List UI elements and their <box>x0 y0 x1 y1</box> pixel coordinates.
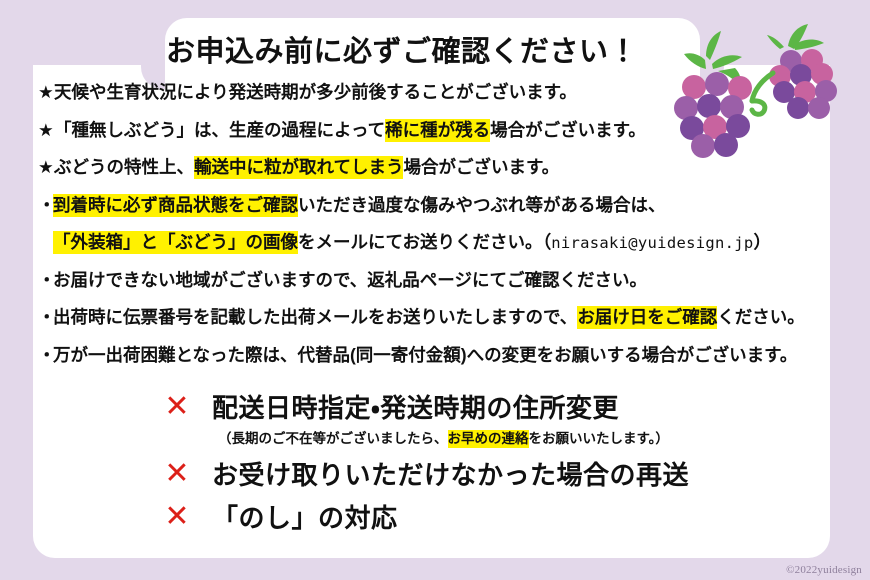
notice-star-item: ★天候や生育状況により発送時期が多少前後することがございます。 <box>38 84 838 102</box>
notice-dot-item: ・到着時に必ず商品状態をご確認いただき過度な傷みやつぶれ等がある場合は、 <box>38 197 838 215</box>
notice-text: ぶどうの特性上、 <box>54 157 194 177</box>
notice-dot-item-continued: 「外装箱」と「ぶどう」の画像をメールにてお送りください。（nirasaki@yu… <box>38 234 838 252</box>
prohibited-item-label: 「のし」の対応 <box>212 498 398 535</box>
star-bullet-icon: ★ <box>38 84 54 102</box>
highlighted-text: お届け日をご確認 <box>577 306 717 329</box>
highlighted-text: 到着時に必ず商品状態をご確認 <box>53 194 298 217</box>
notice-star-item: ★「種無しぶどう」は、生産の過程によって稀に種が残る場合がございます。 <box>38 122 838 140</box>
copyright-credit: ©2022yuidesign <box>786 564 862 576</box>
notice-list: ★天候や生育状況により発送時期が多少前後することがございます。★「種無しぶどう」… <box>38 84 838 384</box>
notice-text: 場合がございます。 <box>403 157 559 177</box>
prohibited-item-note: （長期のご不在等がございましたら、お早めの連絡をお願いいたします。） <box>218 427 860 447</box>
notice-text: nirasaki@yuidesign.jp <box>551 234 753 252</box>
x-cross-icon: ✕ <box>160 459 194 489</box>
notice-dot-item: ・お届けできない地域がございますので、返礼品ページにてご確認ください。 <box>38 272 838 290</box>
notice-text: 出荷時に伝票番号を記載した出荷メールをお送りいたしますので、 <box>53 307 577 327</box>
notice-text: ） <box>754 232 772 252</box>
prohibited-item: ✕配送日時指定・発送時期の住所変更 <box>160 388 860 425</box>
page-title: お申込み前に必ずご確認ください！ <box>0 28 870 70</box>
dot-bullet-icon: ・ <box>38 347 53 365</box>
notice-dot-item: ・出荷時に伝票番号を記載した出荷メールをお送りいたしますので、お届け日をご確認く… <box>38 309 838 327</box>
notice-text: 万が一出荷困難となった際は、代替品(同一寄付金額)への変更をお願いする場合がござ… <box>53 345 797 365</box>
highlighted-text: 稀に種が残る <box>385 119 490 142</box>
poster-background: お申込み前に必ずご確認ください！ ★天候や生育状況により発送時期が多少前後するこ… <box>0 0 870 580</box>
notice-text: 天候や生育状況により発送時期が多少前後することがございます。 <box>54 82 577 102</box>
notice-text: をお願いいたします。） <box>529 431 669 446</box>
star-bullet-icon: ★ <box>38 159 54 177</box>
dot-bullet-icon: ・ <box>38 309 53 327</box>
dot-bullet-icon: ・ <box>38 272 53 290</box>
notice-text: いただき過度な傷みやつぶれ等がある場合は、 <box>298 195 666 215</box>
notice-dot-item: ・万が一出荷困難となった際は、代替品(同一寄付金額)への変更をお願いする場合がご… <box>38 347 838 365</box>
notice-star-item: ★ぶどうの特性上、輸送中に粒が取れてしまう場合がございます。 <box>38 159 838 177</box>
prohibited-item: ✕お受け取りいただけなかった場合の再送 <box>160 455 860 492</box>
x-cross-icon: ✕ <box>160 392 194 422</box>
prohibited-item-label: お受け取りいただけなかった場合の再送 <box>212 455 689 492</box>
notice-text: お届けできない地域がございますので、返礼品ページにてご確認ください。 <box>53 270 647 290</box>
prohibited-item: ✕「のし」の対応 <box>160 498 860 535</box>
notice-text: 場合がございます。 <box>490 120 646 140</box>
x-cross-icon: ✕ <box>160 502 194 532</box>
highlighted-text: 輸送中に粒が取れてしまう <box>194 156 403 179</box>
notice-text: （長期のご不在等がございましたら、 <box>218 431 448 446</box>
notice-text: をメールにてお送りください。（ <box>298 232 551 252</box>
prohibited-item-label: 配送日時指定・発送時期の住所変更 <box>212 388 619 425</box>
notice-text: 「種無しぶどう」は、生産の過程によって <box>54 120 385 140</box>
star-bullet-icon: ★ <box>38 122 54 140</box>
highlighted-text: お早めの連絡 <box>448 430 529 448</box>
prohibited-list: ✕配送日時指定・発送時期の住所変更（長期のご不在等がございましたら、お早めの連絡… <box>160 388 860 537</box>
highlighted-text: 「外装箱」と「ぶどう」の画像 <box>53 231 298 254</box>
dot-bullet-icon: ・ <box>38 197 53 215</box>
notice-text: ください。 <box>717 307 805 327</box>
